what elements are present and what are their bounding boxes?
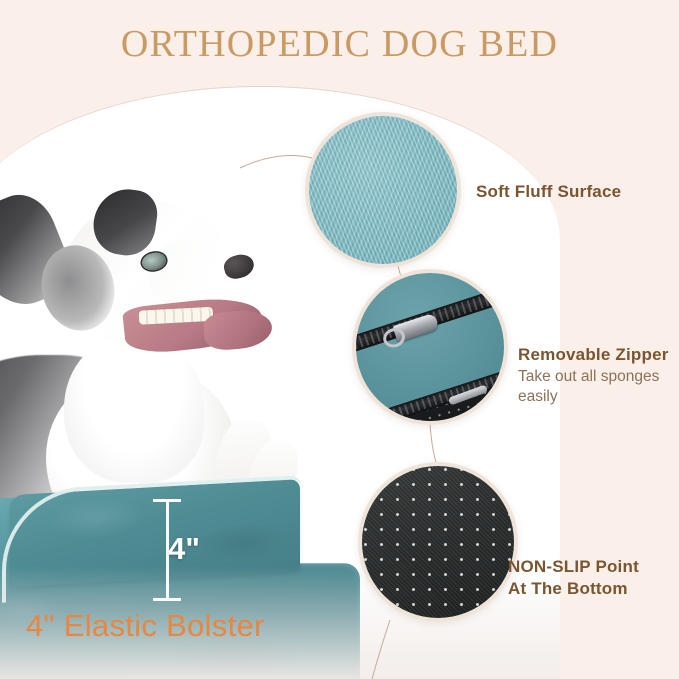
feature-swatch-nonslip[interactable] (358, 462, 518, 622)
feature-heading-fluff: Soft Fluff Surface (476, 182, 621, 202)
bolster-caption: 4" Elastic Bolster (26, 608, 265, 644)
feature-label-zipper: Removable Zipper Take out all sponges ea… (518, 345, 679, 407)
dog-tongue (203, 309, 273, 352)
dog-neck (64, 333, 204, 483)
feature-heading-nonslip-line1: NON-SLIP Point (508, 556, 639, 578)
feature-heading-nonslip-line2: At The Bottom (508, 578, 639, 600)
dog-teeth (139, 307, 214, 325)
feature-label-fluff: Soft Fluff Surface (476, 182, 621, 202)
infographic-page: ORTHOPEDIC DOG BED (0, 0, 679, 679)
dimension-label: 4" (168, 531, 200, 567)
feature-label-nonslip: NON-SLIP Point At The Bottom (508, 556, 639, 601)
feature-swatch-zipper[interactable] (352, 269, 508, 425)
feature-swatch-fluff[interactable] (305, 112, 461, 268)
page-title: ORTHOPEDIC DOG BED (0, 22, 679, 66)
feature-heading-zipper: Removable Zipper (518, 345, 679, 365)
dog-photo (0, 183, 286, 513)
feature-subtext-zipper: Take out all sponges easily (518, 367, 679, 407)
